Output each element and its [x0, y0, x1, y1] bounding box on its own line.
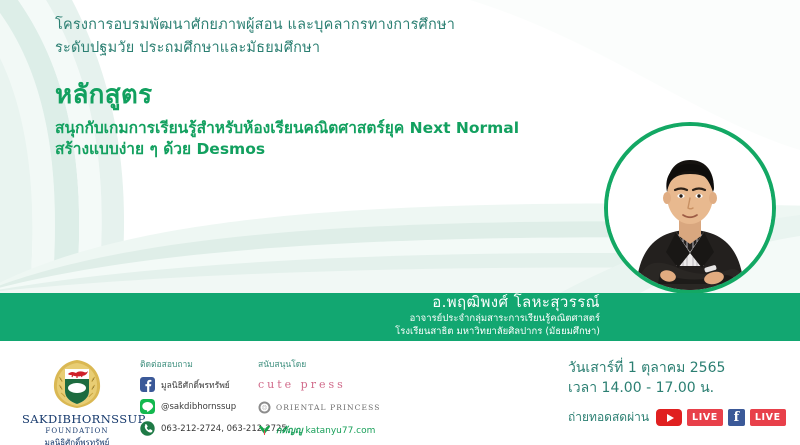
foundation-name: SAKDIBHORNSSUP — [22, 412, 132, 426]
youtube-icon[interactable] — [656, 409, 682, 426]
poster-canvas: โครงการอบรมพัฒนาศักยภาพผู้สอน และบุคลากร… — [0, 0, 800, 445]
schedule-section: วันเสาร์ที่ 1 ตุลาคม 2565 เวลา 14.00 - 1… — [568, 358, 800, 427]
katanyu-label-thai: กตัญญู — [276, 426, 303, 436]
course-title-line1: สนุกกับเกมการเรียนรู้สำหรับห้องเรียนคณิต… — [55, 118, 555, 139]
cute-press-logo: cute press — [258, 378, 346, 391]
contact-section: ติดต่อสอบถาม มูลนิธิศักดิ์พรทรัพย์ @sakd… — [140, 357, 270, 443]
broadcast-row: ถ่ายทอดสดผ่าน LIVE f LIVE — [568, 408, 800, 427]
speaker-portrait — [604, 122, 776, 294]
youtube-live-badge[interactable]: LIVE — [687, 409, 723, 426]
oriental-princess-logo — [258, 401, 271, 414]
speaker-role: อาจารย์ประจำกลุ่มสาระการเรียนรู้คณิตศาสต… — [180, 312, 600, 325]
event-date: วันเสาร์ที่ 1 ตุลาคม 2565 — [568, 358, 800, 378]
katanyu-label-url: katanyu77.com — [306, 426, 376, 436]
sponsor-katanyu: กตัญญู katanyu77.com — [258, 423, 418, 437]
program-header-line2: ระดับปฐมวัย ประถมศึกษาและมัธยมศึกษา — [55, 37, 575, 60]
course-label: หลักสูตร — [55, 80, 152, 110]
foundation-logo: SAKDIBHORNSSUP FOUNDATION มูลนิธิศักดิ์พ… — [22, 355, 132, 445]
contact-line[interactable]: @sakdibhornssup — [140, 399, 270, 414]
course-title: สนุกกับเกมการเรียนรู้สำหรับห้องเรียนคณิต… — [55, 118, 555, 160]
sponsor-oriental-princess: ORIENTAL PRINCESS — [258, 400, 418, 414]
contact-phone[interactable]: 063-212-2724, 063-212-2725 — [140, 421, 270, 436]
foundation-subtitle: FOUNDATION — [22, 427, 132, 435]
course-title-line2: สร้างแบบง่าย ๆ ด้วย Desmos — [55, 139, 555, 160]
speaker-school: โรงเรียนสาธิต มหาวิทยาลัยศิลปากร (มัธยมศ… — [180, 325, 600, 338]
line-icon[interactable] — [140, 399, 155, 414]
foundation-name-thai: มูลนิธิศักดิ์พรทรัพย์ — [22, 436, 132, 445]
facebook-icon[interactable] — [140, 377, 155, 392]
contact-facebook[interactable]: มูลนิธิศักดิ์พรทรัพย์ — [140, 377, 270, 392]
katanyu-label: กตัญญู katanyu77.com — [276, 423, 375, 437]
sponsor-section: สนับสนุนโดย cute press ORIENTAL PRINCESS — [258, 357, 418, 445]
contact-line-label: @sakdibhornssup — [161, 402, 236, 412]
katanyu-logo — [258, 424, 271, 436]
program-header: โครงการอบรมพัฒนาศักยภาพผู้สอน และบุคลากร… — [55, 14, 575, 60]
facebook-live-badge[interactable]: LIVE — [750, 409, 786, 426]
speaker-photo — [608, 126, 772, 290]
program-header-line1: โครงการอบรมพัฒนาศักยภาพผู้สอน และบุคลากร… — [55, 14, 575, 37]
speaker-name: อ.พฤฒิพงศ์ โลหะสุวรรณ์ — [180, 293, 600, 312]
contact-heading: ติดต่อสอบถาม — [140, 357, 270, 371]
contact-facebook-label: มูลนิธิศักดิ์พรทรัพย์ — [161, 378, 230, 392]
crest-icon — [49, 355, 105, 411]
facebook-f-glyph: f — [728, 409, 745, 426]
speaker-info: อ.พฤฒิพงศ์ โลหะสุวรรณ์ อาจารย์ประจำกลุ่ม… — [180, 293, 600, 338]
facebook-icon-footer[interactable]: f — [728, 409, 745, 426]
phone-icon[interactable] — [140, 421, 155, 436]
sponsor-cute-press: cute press — [258, 377, 418, 391]
event-time: เวลา 14.00 - 17.00 น. — [568, 378, 800, 398]
youtube-play-triangle — [667, 414, 674, 422]
broadcast-label: ถ่ายทอดสดผ่าน — [568, 408, 649, 427]
oriental-princess-label: ORIENTAL PRINCESS — [276, 403, 380, 412]
sponsor-heading: สนับสนุนโดย — [258, 357, 418, 371]
